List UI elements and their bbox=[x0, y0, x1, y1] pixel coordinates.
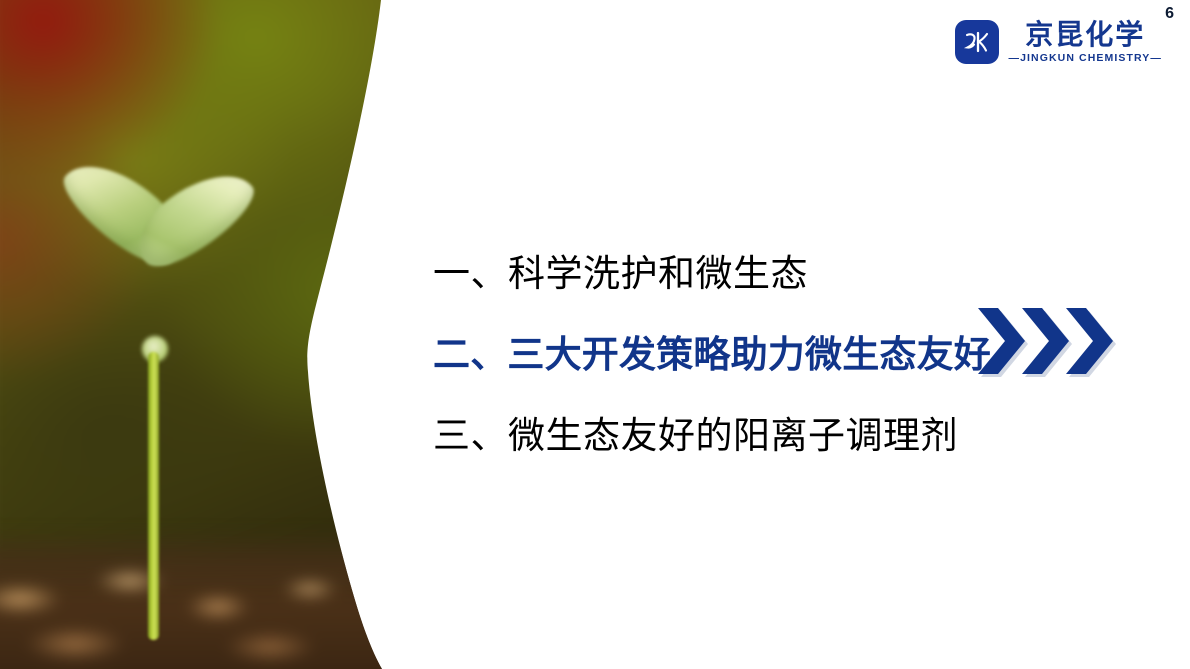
content-area: 一、科学洗护和微生态 二、三大开发策略助力微生态友好 三、微生态友好的阳离子调理… bbox=[433, 0, 1190, 669]
jk-monogram-icon bbox=[955, 20, 999, 64]
logo-english-name: —JINGKUN CHEMISTRY— bbox=[1008, 52, 1162, 64]
logo-chinese-name: 京昆化学 bbox=[1025, 20, 1145, 49]
page-number: 6 bbox=[1165, 6, 1174, 22]
soil-bed bbox=[0, 529, 400, 669]
agenda-item-3[interactable]: 三、微生态友好的阳离子调理剂 bbox=[433, 395, 1133, 476]
logo-wordmark: 京昆化学 —JINGKUN CHEMISTRY— bbox=[1008, 20, 1162, 63]
plant-stem bbox=[148, 352, 159, 640]
triple-chevron-right-icon bbox=[973, 303, 1133, 381]
slide: 一、科学洗护和微生态 二、三大开发策略助力微生态友好 三、微生态友好的阳离子调理… bbox=[0, 0, 1190, 669]
seedling-photo bbox=[0, 0, 400, 669]
company-logo: 京昆化学 —JINGKUN CHEMISTRY— bbox=[955, 20, 1162, 64]
agenda-item-1[interactable]: 一、科学洗护和微生态 bbox=[433, 233, 1133, 314]
